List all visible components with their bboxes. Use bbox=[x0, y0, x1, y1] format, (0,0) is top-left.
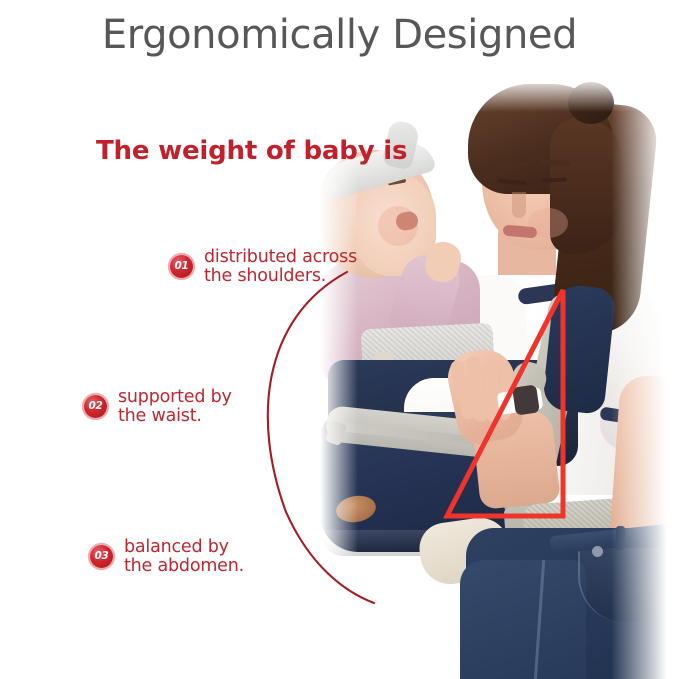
callout-text-3: balanced by the abdomen. bbox=[124, 538, 244, 576]
callout-text-2: supported by the waist. bbox=[118, 388, 232, 426]
callout-number: 01 bbox=[174, 261, 188, 272]
callout-item-3: 03 balanced by the abdomen. bbox=[90, 538, 244, 576]
infographic-canvas: Ergonomically Designed The weight of bab… bbox=[0, 0, 679, 679]
callout-text-1: distributed across the shoulders. bbox=[204, 248, 357, 286]
callout-badge-02: 02 bbox=[84, 395, 107, 418]
carrier-shoulder-pad bbox=[542, 283, 617, 415]
jeans-button bbox=[592, 546, 603, 557]
callout-item-2: 02 supported by the waist. bbox=[84, 388, 232, 426]
mother-watch-face bbox=[512, 384, 540, 415]
callout-item-1: 01 distributed across the shoulders. bbox=[170, 248, 357, 286]
callout-number: 02 bbox=[88, 401, 102, 412]
callout-number: 03 bbox=[94, 551, 108, 562]
page-title: Ergonomically Designed bbox=[0, 12, 679, 58]
callout-badge-01: 01 bbox=[170, 255, 193, 278]
callout-badge-03: 03 bbox=[90, 545, 113, 568]
mother-nose bbox=[512, 192, 526, 218]
subtitle: The weight of baby is bbox=[96, 136, 407, 166]
jeans-leg-left bbox=[460, 560, 586, 679]
photo-fade-right bbox=[611, 60, 679, 679]
